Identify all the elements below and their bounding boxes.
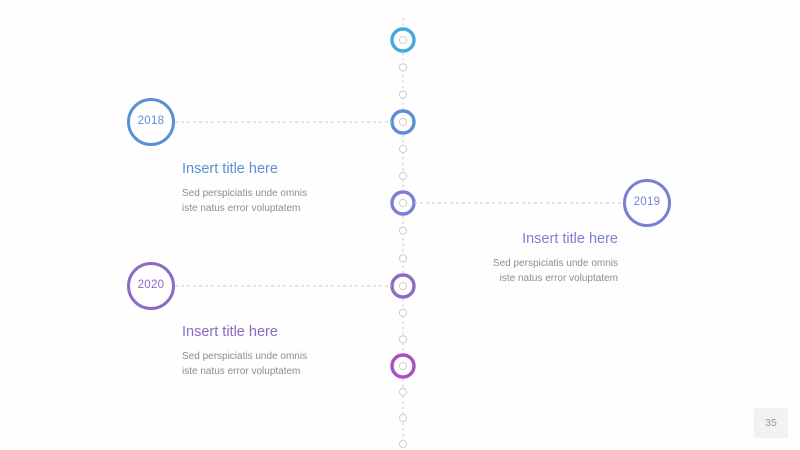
entry-body-2020-line-2: iste natus error voluptatem [182, 364, 382, 380]
entry-title-2018: Insert title here [182, 160, 382, 179]
slide-canvas: 2018 Insert title here Sed perspiciatis … [0, 0, 800, 450]
timeline-connectors [0, 0, 800, 450]
entry-body-2018-line-1: Sed perspiciatis unde omnis [182, 186, 382, 202]
timeline-chain [0, 0, 800, 450]
year-badge-2020[interactable]: 2020 [127, 262, 175, 310]
entry-title-2019: Insert title here [418, 230, 618, 249]
entry-text-2019: Insert title here Sed perspiciatis unde … [418, 230, 618, 287]
page-number-badge: 35 [754, 408, 788, 438]
year-badge-2019-label: 2019 [634, 197, 661, 209]
entry-body-2020-line-1: Sed perspiciatis unde omnis [182, 349, 382, 365]
entry-text-2020: Insert title here Sed perspiciatis unde … [182, 323, 382, 380]
entry-body-2019-line-1: Sed perspiciatis unde omnis [418, 256, 618, 272]
entry-body-2019: Sed perspiciatis unde omnis iste natus e… [418, 256, 618, 287]
entry-body-2019-line-2: iste natus error voluptatem [418, 271, 618, 287]
entry-body-2020: Sed perspiciatis unde omnis iste natus e… [182, 349, 382, 380]
page-number-label: 35 [765, 417, 777, 429]
entry-text-2018: Insert title here Sed perspiciatis unde … [182, 160, 382, 217]
year-badge-2019[interactable]: 2019 [623, 179, 671, 227]
year-badge-2018-label: 2018 [138, 116, 165, 128]
entry-title-2020: Insert title here [182, 323, 382, 342]
year-badge-2018[interactable]: 2018 [127, 98, 175, 146]
entry-body-2018-line-2: iste natus error voluptatem [182, 201, 382, 217]
year-badge-2020-label: 2020 [138, 280, 165, 292]
entry-body-2018: Sed perspiciatis unde omnis iste natus e… [182, 186, 382, 217]
